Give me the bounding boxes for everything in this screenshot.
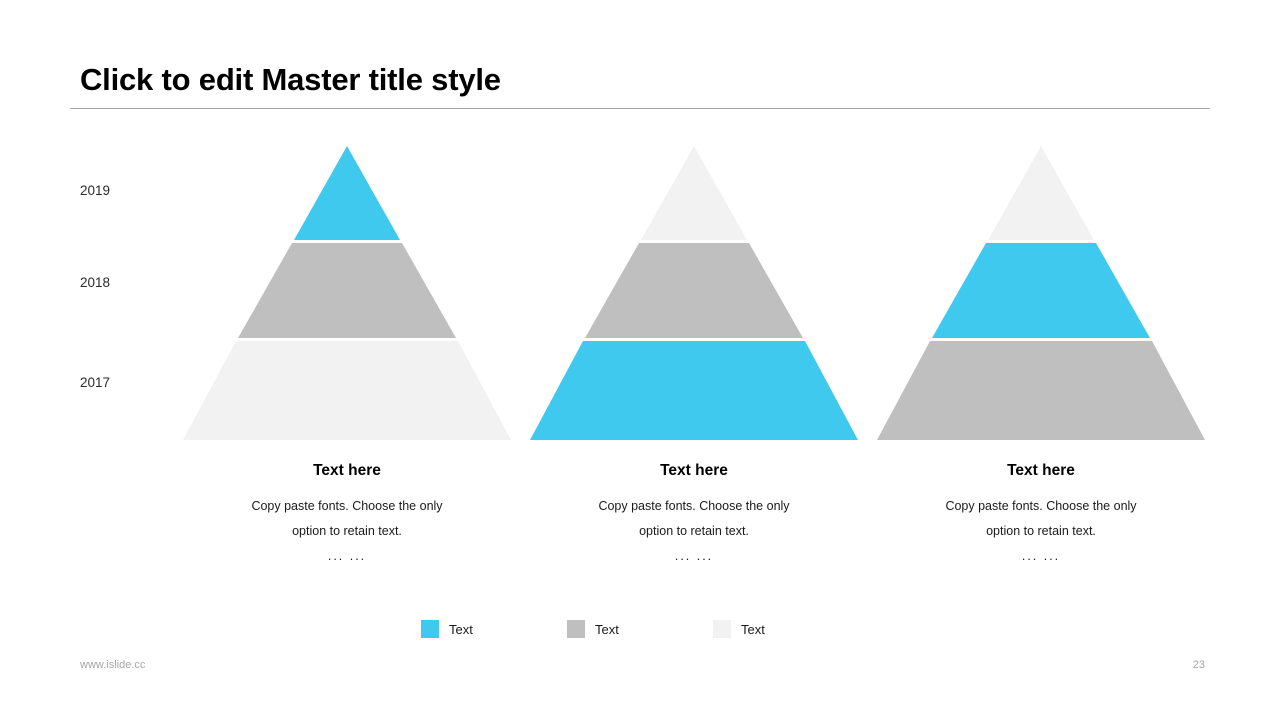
legend-label: Text [449,622,473,637]
caption-block-3: Text here Copy paste fonts. Choose the o… [876,462,1206,569]
year-label-2018: 2018 [80,275,110,290]
caption-heading: Text here [182,462,512,479]
pyramid-2-band-2018[interactable] [585,243,803,338]
caption-block-1: Text here Copy paste fonts. Choose the o… [182,462,512,569]
page-number: 23 [1193,659,1205,671]
legend-label: Text [741,622,765,637]
pyramid-1-band-2019[interactable] [294,146,400,240]
pyramid-2-band-2017[interactable] [530,341,858,440]
caption-block-2: Text here Copy paste fonts. Choose the o… [529,462,859,569]
pyramid-3-band-2019[interactable] [988,146,1094,240]
legend-item-1[interactable]: Text [421,620,567,638]
caption-ellipsis: ... ... [182,544,512,569]
year-label-2019: 2019 [80,183,110,198]
caption-body-line-2: option to retain text. [876,519,1206,544]
slide-canvas: Click to edit Master title style 2019 20… [0,0,1280,720]
caption-body-line-1: Copy paste fonts. Choose the only [529,494,859,519]
legend-label: Text [595,622,619,637]
pyramid-3-band-2017[interactable] [877,341,1205,440]
caption-body-line-1: Copy paste fonts. Choose the only [876,494,1206,519]
pyramid-1-band-2018[interactable] [238,243,456,338]
legend-item-3[interactable]: Text [713,620,859,638]
caption-body-line-2: option to retain text. [182,519,512,544]
year-label-2017: 2017 [80,375,110,390]
chart-legend: Text Text Text [0,620,1280,638]
pyramid-3-band-2018[interactable] [932,243,1150,338]
footer-url[interactable]: www.islide.cc [80,659,145,671]
pyramid-chart-3[interactable] [876,144,1206,442]
legend-swatch-icon [421,620,439,638]
legend-swatch-icon [567,620,585,638]
pyramid-2-band-2019[interactable] [641,146,747,240]
pyramid-1-band-2017[interactable] [183,341,511,440]
caption-body-line-2: option to retain text. [529,519,859,544]
caption-ellipsis: ... ... [529,544,859,569]
pyramid-chart-1[interactable] [182,144,512,442]
caption-heading: Text here [876,462,1206,479]
pyramid-chart-2[interactable] [529,144,859,442]
page-title: Click to edit Master title style [80,62,501,98]
legend-swatch-icon [713,620,731,638]
legend-item-2[interactable]: Text [567,620,713,638]
title-divider [70,108,1210,109]
caption-body-line-1: Copy paste fonts. Choose the only [182,494,512,519]
caption-heading: Text here [529,462,859,479]
caption-ellipsis: ... ... [876,544,1206,569]
